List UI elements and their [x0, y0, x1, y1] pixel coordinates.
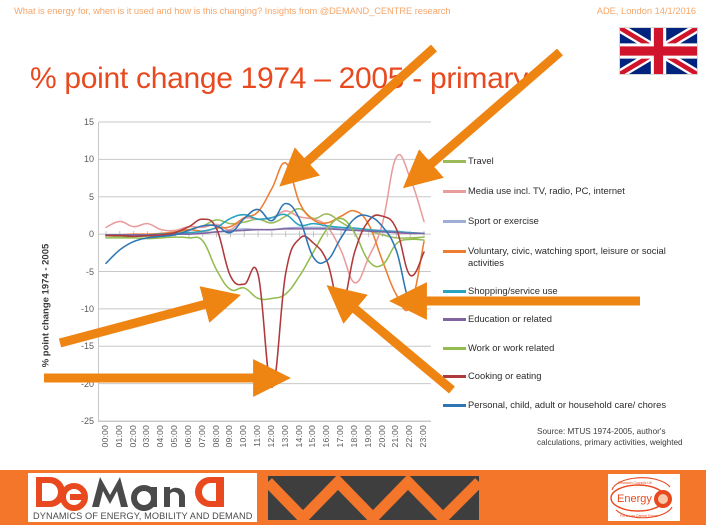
legend-item[interactable]: Cooking or eating [443, 370, 542, 382]
x-tick-label: 10:00 [238, 425, 248, 448]
plot-area [98, 122, 431, 422]
x-tick-label: 12:00 [266, 425, 276, 448]
legend-color-swatch [443, 290, 466, 293]
footer-divider [0, 525, 706, 529]
legend-item-label: Shopping/service use [468, 285, 558, 297]
x-tick-label: 02:00 [128, 425, 138, 448]
legend-item-label: Cooking or eating [468, 370, 542, 382]
x-tick-label: 17:00 [335, 425, 345, 448]
demand-logo: DYNAMICS OF ENERGY, MOBILITY AND DEMAND [28, 473, 257, 522]
y-tick-label: 15 [64, 117, 94, 127]
x-tick-label: 16:00 [321, 425, 331, 448]
y-tick-label: -25 [64, 416, 94, 426]
x-tick-label: 11:00 [252, 425, 262, 447]
x-tick-label: 06:00 [183, 425, 193, 448]
legend-item-label: Media use incl. TV, radio, PC, internet [468, 185, 625, 197]
svg-text:Energy: Energy [617, 493, 652, 505]
legend-item[interactable]: Education or related [443, 313, 552, 325]
y-axis-title: % point change 1974 - 2005 [41, 236, 52, 376]
legend-item-label: Work or work related [468, 342, 554, 354]
svg-text:DYNAMICS OF ENERGY, MOBILITY A: DYNAMICS OF ENERGY, MOBILITY AND DEMAND [33, 511, 253, 521]
x-tick-label: 18:00 [349, 425, 359, 448]
x-tick-label: 23:00 [418, 425, 428, 448]
legend-color-swatch [443, 347, 466, 350]
x-tick-label: 01:00 [114, 425, 124, 448]
x-tick-label: 03:00 [141, 425, 151, 448]
x-tick-label: 22:00 [404, 425, 414, 448]
x-tick-label: 00:00 [100, 425, 110, 448]
legend-color-swatch [443, 160, 466, 163]
source-note: Source: MTUS 1974-2005, author's calcula… [537, 426, 702, 448]
x-tick-label: 04:00 [155, 425, 165, 448]
svg-text:Research Councils UK: Research Councils UK [618, 481, 653, 485]
legend-item[interactable]: Travel [443, 155, 494, 167]
legend-color-swatch [443, 404, 466, 407]
rcuk-energy-logo: Energy Research Councils UK For a Low Ca… [608, 474, 680, 521]
legend-color-swatch [443, 318, 466, 321]
x-tick-label: 09:00 [224, 425, 234, 448]
y-tick-label: 5 [64, 192, 94, 202]
x-tick-label: 13:00 [280, 425, 290, 448]
legend-item[interactable]: Media use incl. TV, radio, PC, internet [443, 185, 625, 197]
slide: What is energy for, when is it used and … [0, 0, 706, 529]
y-tick-label: -15 [64, 341, 94, 351]
y-tick-label: 10 [64, 154, 94, 164]
legend-color-swatch [443, 220, 466, 223]
legend-item[interactable]: Work or work related [443, 342, 554, 354]
svg-text:For a Low Carbon Future: For a Low Carbon Future [620, 514, 658, 518]
zigzag-graphic [268, 476, 479, 520]
chart-container: % point change 1974 - 2005 151050-5-10-1… [0, 110, 460, 460]
y-tick-label: 0 [64, 229, 94, 239]
y-tick-label: -10 [64, 304, 94, 314]
x-tick-label: 14:00 [294, 425, 304, 448]
header-event-text: ADE, London 14/1/2016 [597, 6, 696, 16]
x-tick-label: 15:00 [307, 425, 317, 448]
x-tick-label: 07:00 [197, 425, 207, 448]
page-title: % point change 1974 – 2005 - primary [30, 62, 528, 96]
legend-item-label: Voluntary, civic, watching sport, leisur… [468, 245, 693, 268]
y-tick-label: -5 [64, 267, 94, 277]
x-tick-label: 19:00 [363, 425, 373, 448]
x-tick-label: 05:00 [169, 425, 179, 448]
legend-item-label: Personal, child, adult or household care… [468, 399, 666, 411]
y-tick-label: -20 [64, 379, 94, 389]
x-tick-label: 08:00 [211, 425, 221, 448]
legend-color-swatch [443, 190, 466, 193]
legend-item[interactable]: Personal, child, adult or household care… [443, 399, 666, 411]
slide-header: What is energy for, when is it used and … [0, 0, 706, 26]
legend-item[interactable]: Sport or exercise [443, 215, 539, 227]
legend-item-label: Sport or exercise [468, 215, 539, 227]
x-tick-label: 21:00 [390, 425, 400, 448]
header-title-text: What is energy for, when is it used and … [14, 6, 450, 16]
union-jack-flag [619, 27, 698, 75]
legend-item[interactable]: Shopping/service use [443, 285, 558, 297]
legend-color-swatch [443, 375, 466, 378]
y-axis-ticks: 151050-5-10-15-20-25 [58, 110, 94, 420]
legend-color-swatch [443, 250, 466, 253]
legend-item-label: Education or related [468, 313, 552, 325]
legend-item[interactable]: Voluntary, civic, watching sport, leisur… [443, 245, 693, 268]
legend-item-label: Travel [468, 155, 494, 167]
x-tick-label: 20:00 [377, 425, 387, 448]
